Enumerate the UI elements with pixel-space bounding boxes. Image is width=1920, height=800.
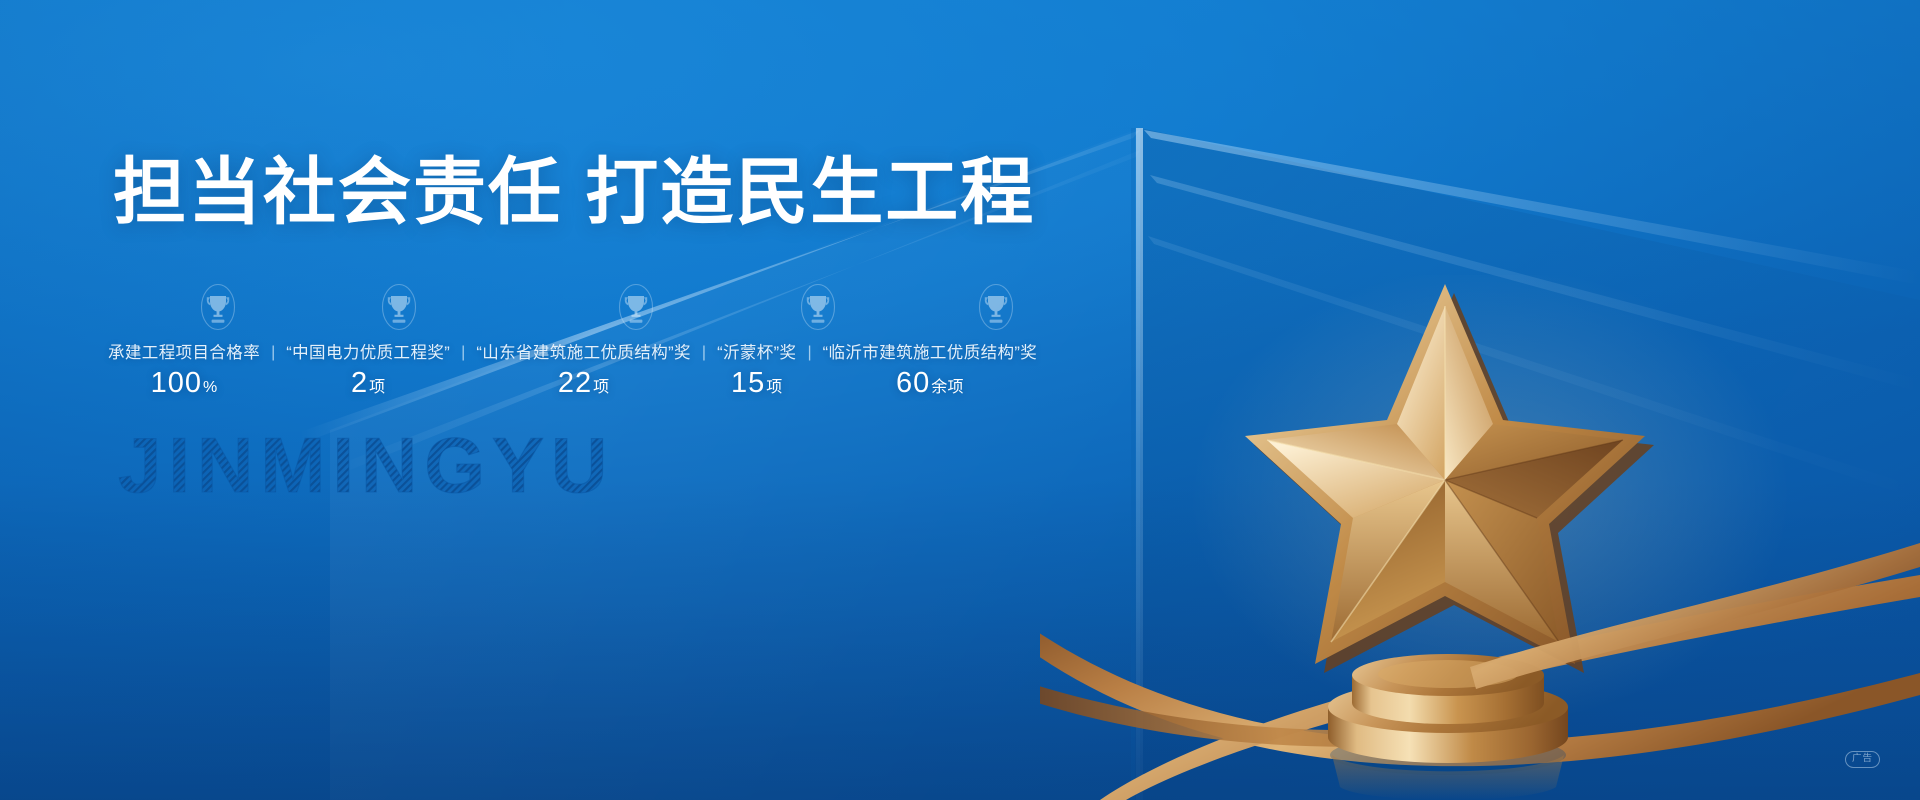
stat-value: 22 项 <box>558 367 610 400</box>
stats-block: 承建工程项目合格率 100 % | “中国电力优质工程奖” 2 项 | “山东省… <box>108 282 928 392</box>
trophy-icon <box>617 282 655 332</box>
stat-label: “沂蒙杯”奖 <box>717 342 796 364</box>
stat-unit: 余项 <box>931 373 964 397</box>
stat-value: 100 % <box>151 367 218 400</box>
stat-label: 承建工程项目合格率 <box>108 342 260 364</box>
stat-item-shandong-award: “山东省建筑施工优质结构”奖 22 项 <box>476 342 691 400</box>
ad-badge: 广告 <box>1845 751 1880 768</box>
stat-item-yimeng-cup: “沂蒙杯”奖 15 项 <box>717 342 796 400</box>
stat-item-linyi-award: “临沂市建筑施工优质结构”奖 60 余项 <box>823 342 1038 400</box>
stat-number: 100 <box>151 367 202 400</box>
stat-label: “临沂市建筑施工优质结构”奖 <box>823 342 1038 364</box>
stat-unit: % <box>203 379 218 397</box>
trophy-icon <box>977 282 1015 332</box>
trophy-icon <box>199 282 237 332</box>
promo-banner: 担当社会责任 打造民生工程 承建工程项目合格率 10 <box>0 0 1920 800</box>
stat-divider: | <box>461 342 465 364</box>
stat-divider: | <box>271 342 275 364</box>
stat-value: 15 项 <box>731 367 783 400</box>
trophy-icon <box>799 282 837 332</box>
pedestal <box>1328 654 1568 800</box>
page-title: 担当社会责任 打造民生工程 <box>113 152 1035 234</box>
stat-number: 2 <box>351 367 368 400</box>
stat-number: 15 <box>731 367 765 400</box>
stat-item-pass-rate: 承建工程项目合格率 100 % <box>108 342 260 400</box>
stat-label: “中国电力优质工程奖” <box>286 342 450 364</box>
watermark-text: JINMINGYU <box>118 422 614 509</box>
stat-label: “山东省建筑施工优质结构”奖 <box>476 342 691 364</box>
trophy-icon <box>380 282 418 332</box>
stat-divider: | <box>807 342 811 364</box>
stat-unit: 项 <box>369 373 385 397</box>
stat-value: 2 项 <box>351 367 385 400</box>
stat-value: 60 余项 <box>896 367 964 400</box>
brand-watermark: JINMINGYU <box>118 422 678 512</box>
stat-text-row: 承建工程项目合格率 100 % | “中国电力优质工程奖” 2 项 | “山东省… <box>108 342 988 400</box>
stat-unit: 项 <box>766 373 782 397</box>
stat-unit: 项 <box>593 373 609 397</box>
stat-number: 22 <box>558 367 592 400</box>
gold-star-trophy-artwork <box>1040 275 1920 800</box>
stat-number: 60 <box>896 367 930 400</box>
stat-divider: | <box>702 342 706 364</box>
stat-item-china-power-award: “中国电力优质工程奖” 2 项 <box>286 342 450 400</box>
stat-icon-row <box>108 282 928 338</box>
